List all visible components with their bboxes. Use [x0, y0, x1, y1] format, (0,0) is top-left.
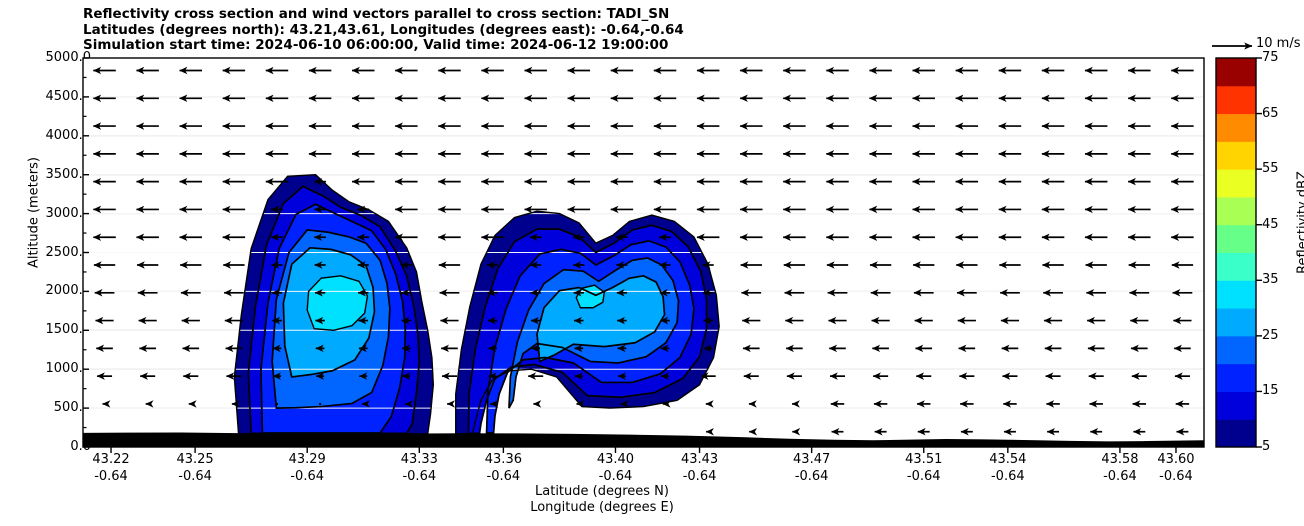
figure-canvas: Reflectivity cross section and wind vect…: [0, 0, 1304, 526]
colorbar: [1216, 58, 1262, 448]
cross-section-plot: [0, 0, 1304, 526]
